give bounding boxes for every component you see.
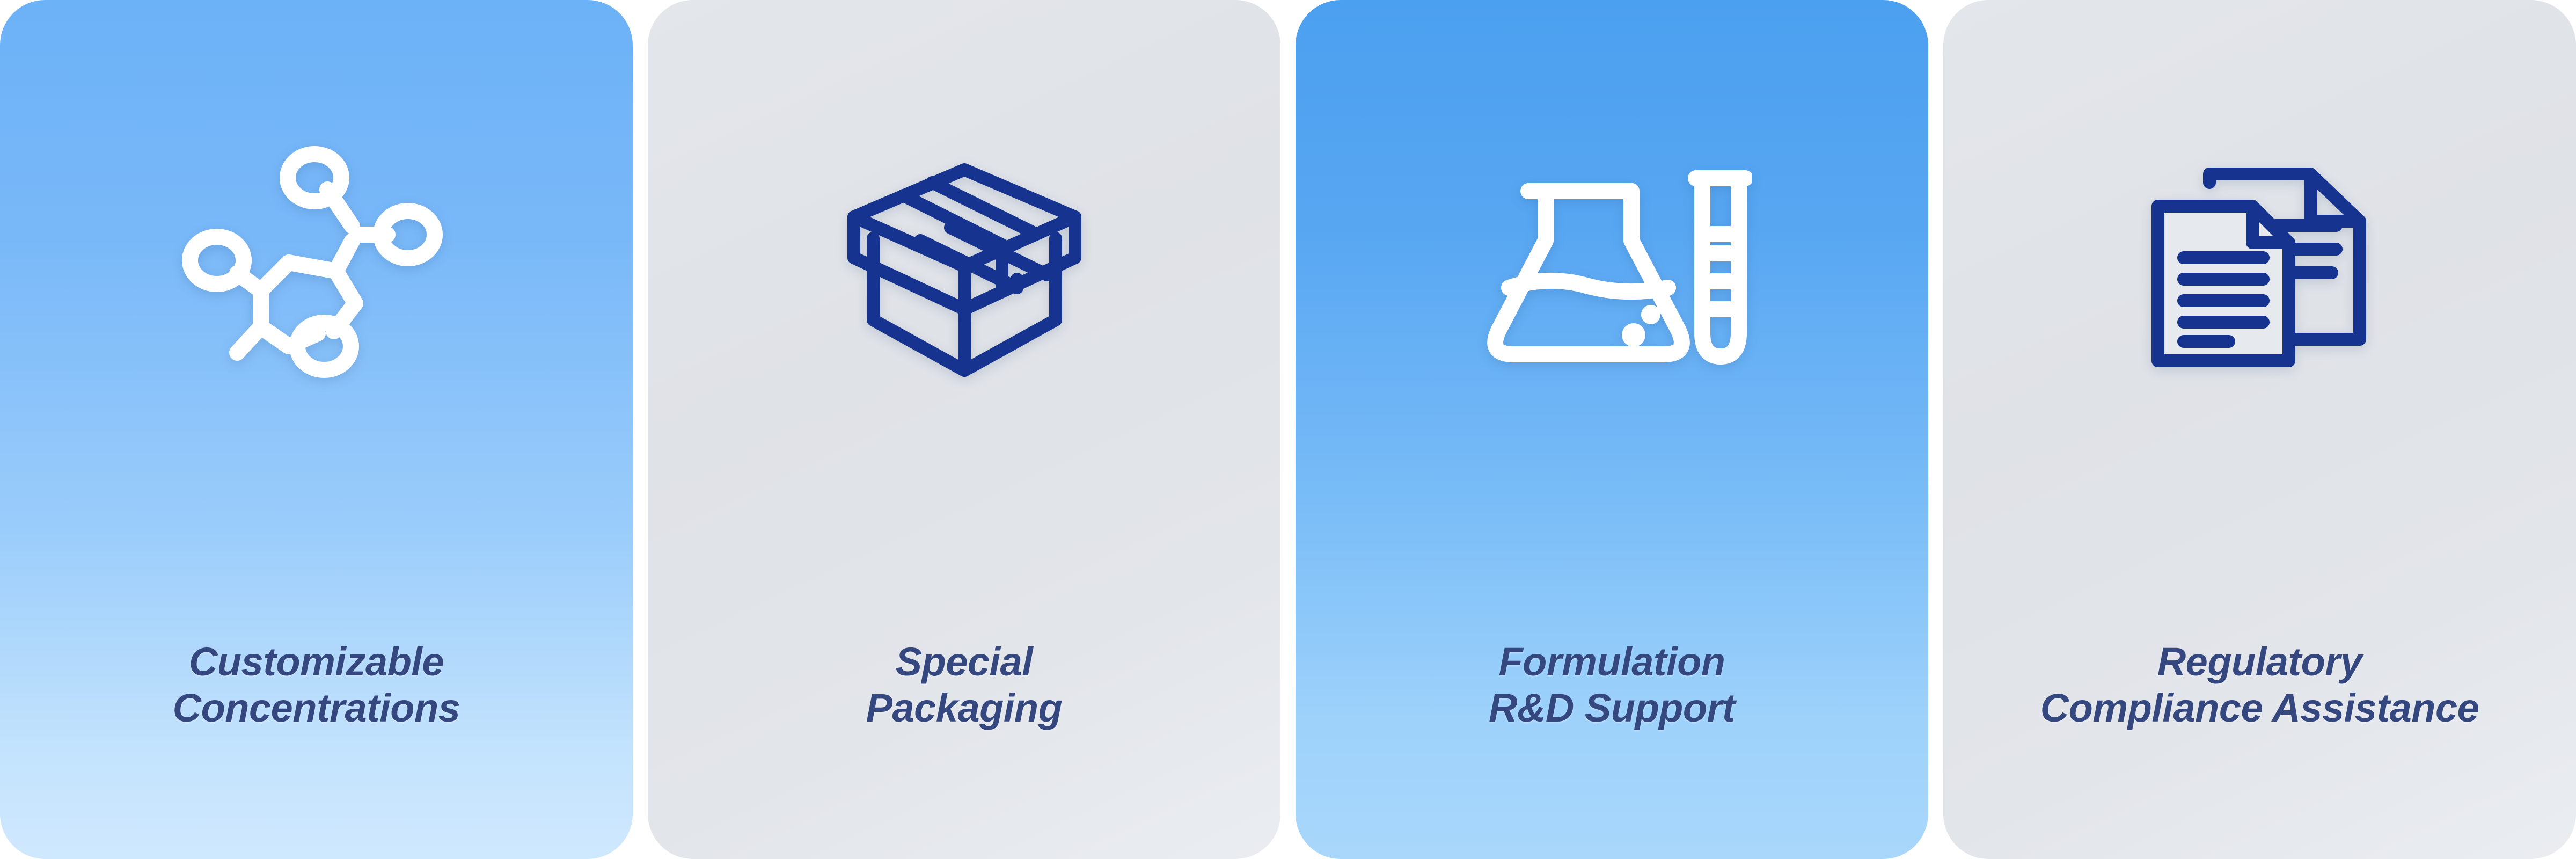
molecule-icon-wrapper xyxy=(0,0,633,542)
card-label-formulation-rd-support: Formulation R&D Support xyxy=(1296,639,1928,731)
feature-card-grid: Customizable Concentrations xyxy=(0,0,2576,859)
flask-bubble-large xyxy=(1622,323,1645,347)
feature-card-customizable-concentrations[interactable]: Customizable Concentrations xyxy=(0,0,633,859)
molecule-icon xyxy=(177,142,456,400)
package-box-icon xyxy=(830,150,1099,392)
molecule-node-bottom xyxy=(297,323,351,370)
molecule-node-top xyxy=(288,154,341,201)
card-label-special-packaging: Special Packaging xyxy=(648,639,1280,731)
card-label-regulatory-compliance-assistance: Regulatory Compliance Assistance xyxy=(1943,639,2576,731)
flask-test-tube-icon xyxy=(1473,150,1752,392)
documents-icon xyxy=(2126,150,2394,392)
molecule-node-left xyxy=(190,237,244,284)
feature-card-special-packaging[interactable]: Special Packaging xyxy=(648,0,1280,859)
card-label-customizable-concentrations: Customizable Concentrations xyxy=(0,639,633,731)
feature-card-regulatory-compliance-assistance[interactable]: Regulatory Compliance Assistance xyxy=(1943,0,2576,859)
feature-card-formulation-rd-support[interactable]: Formulation R&D Support xyxy=(1296,0,1928,859)
flask-bubble-small xyxy=(1641,305,1660,324)
molecule-node-right xyxy=(381,211,435,258)
flask-test-tube-icon-wrapper xyxy=(1296,0,1928,542)
package-box-icon-wrapper xyxy=(648,0,1280,542)
documents-icon-wrapper xyxy=(1943,0,2576,542)
